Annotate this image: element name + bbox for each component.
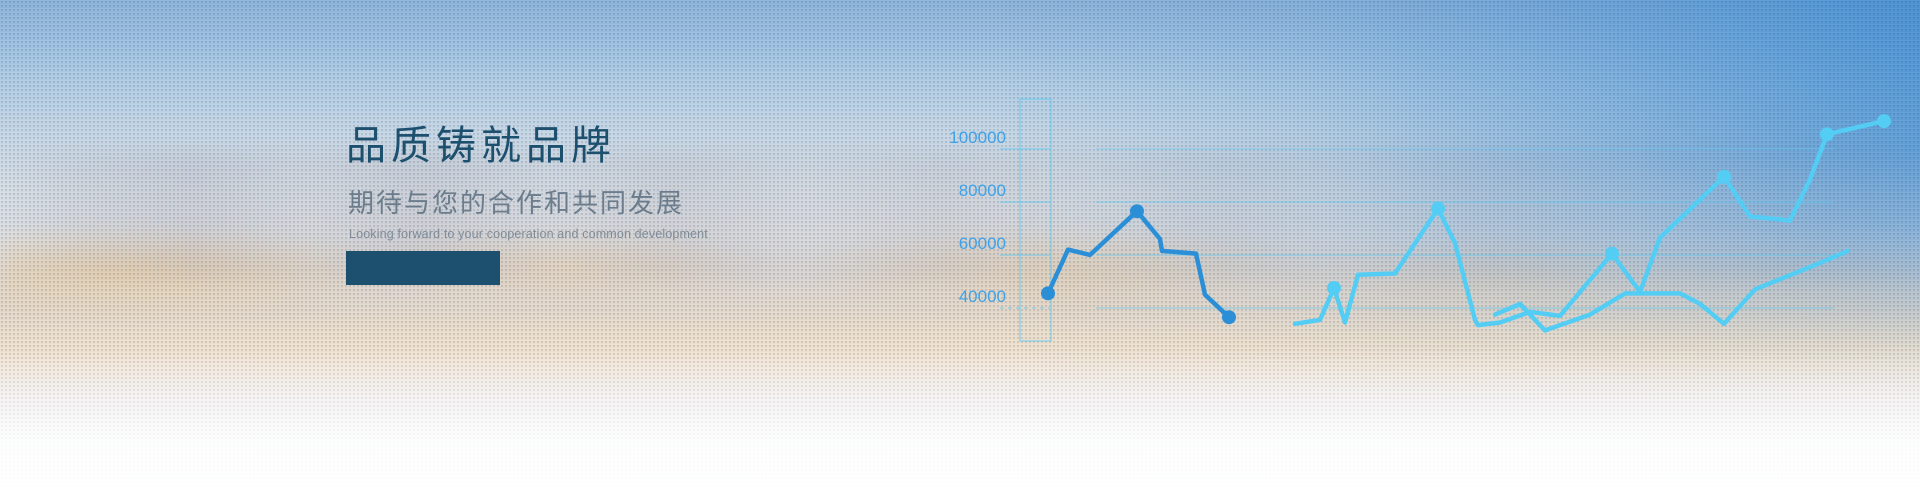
cta-button[interactable] <box>346 251 500 285</box>
background-blue-overlay <box>0 0 1920 500</box>
page-subtitle-en: Looking forward to your cooperation and … <box>349 228 866 241</box>
hero-banner: 100000800006000040000 品质铸就品牌 期待与您的合作和共同发… <box>0 0 1920 500</box>
hero-copy-block: 品质铸就品牌 期待与您的合作和共同发展 Looking forward to y… <box>346 126 866 241</box>
page-subtitle: 期待与您的合作和共同发展 <box>348 190 866 216</box>
page-title: 品质铸就品牌 <box>346 126 866 166</box>
